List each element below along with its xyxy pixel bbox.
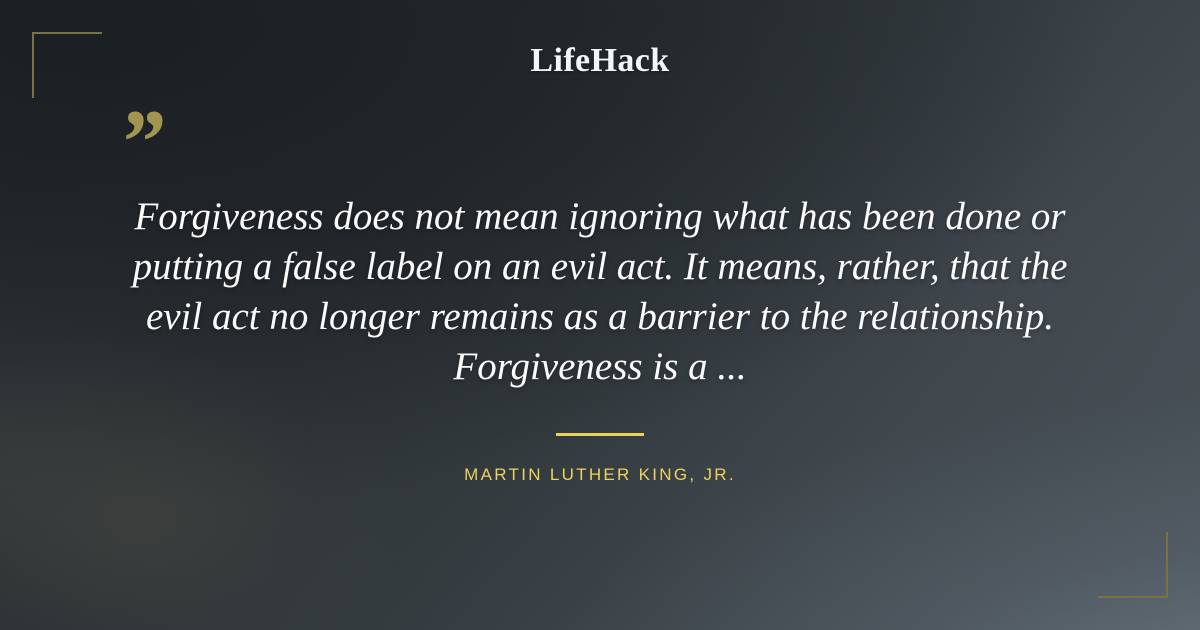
quote-line: evil act no longer remains as a barrier … xyxy=(92,292,1108,342)
quotation-mark-icon: ” xyxy=(118,96,164,188)
corner-line-horizontal xyxy=(32,32,102,34)
quote-card: LifeHack ” Forgiveness does not mean ign… xyxy=(0,0,1200,630)
corner-bracket-bottom-right-icon xyxy=(1098,532,1168,598)
corner-line-vertical xyxy=(1166,532,1168,598)
quote-line: putting a false label on an evil act. It… xyxy=(92,242,1108,292)
quote-line: Forgiveness is a ... xyxy=(92,342,1108,392)
brand-logo: LifeHack xyxy=(0,42,1200,80)
quote-text-block: Forgiveness does not mean ignoring what … xyxy=(0,192,1200,392)
gold-divider xyxy=(556,433,644,436)
corner-line-horizontal xyxy=(1098,596,1168,598)
quote-attribution: MARTIN LUTHER KING, JR. xyxy=(0,465,1200,485)
quote-line: Forgiveness does not mean ignoring what … xyxy=(92,192,1108,242)
